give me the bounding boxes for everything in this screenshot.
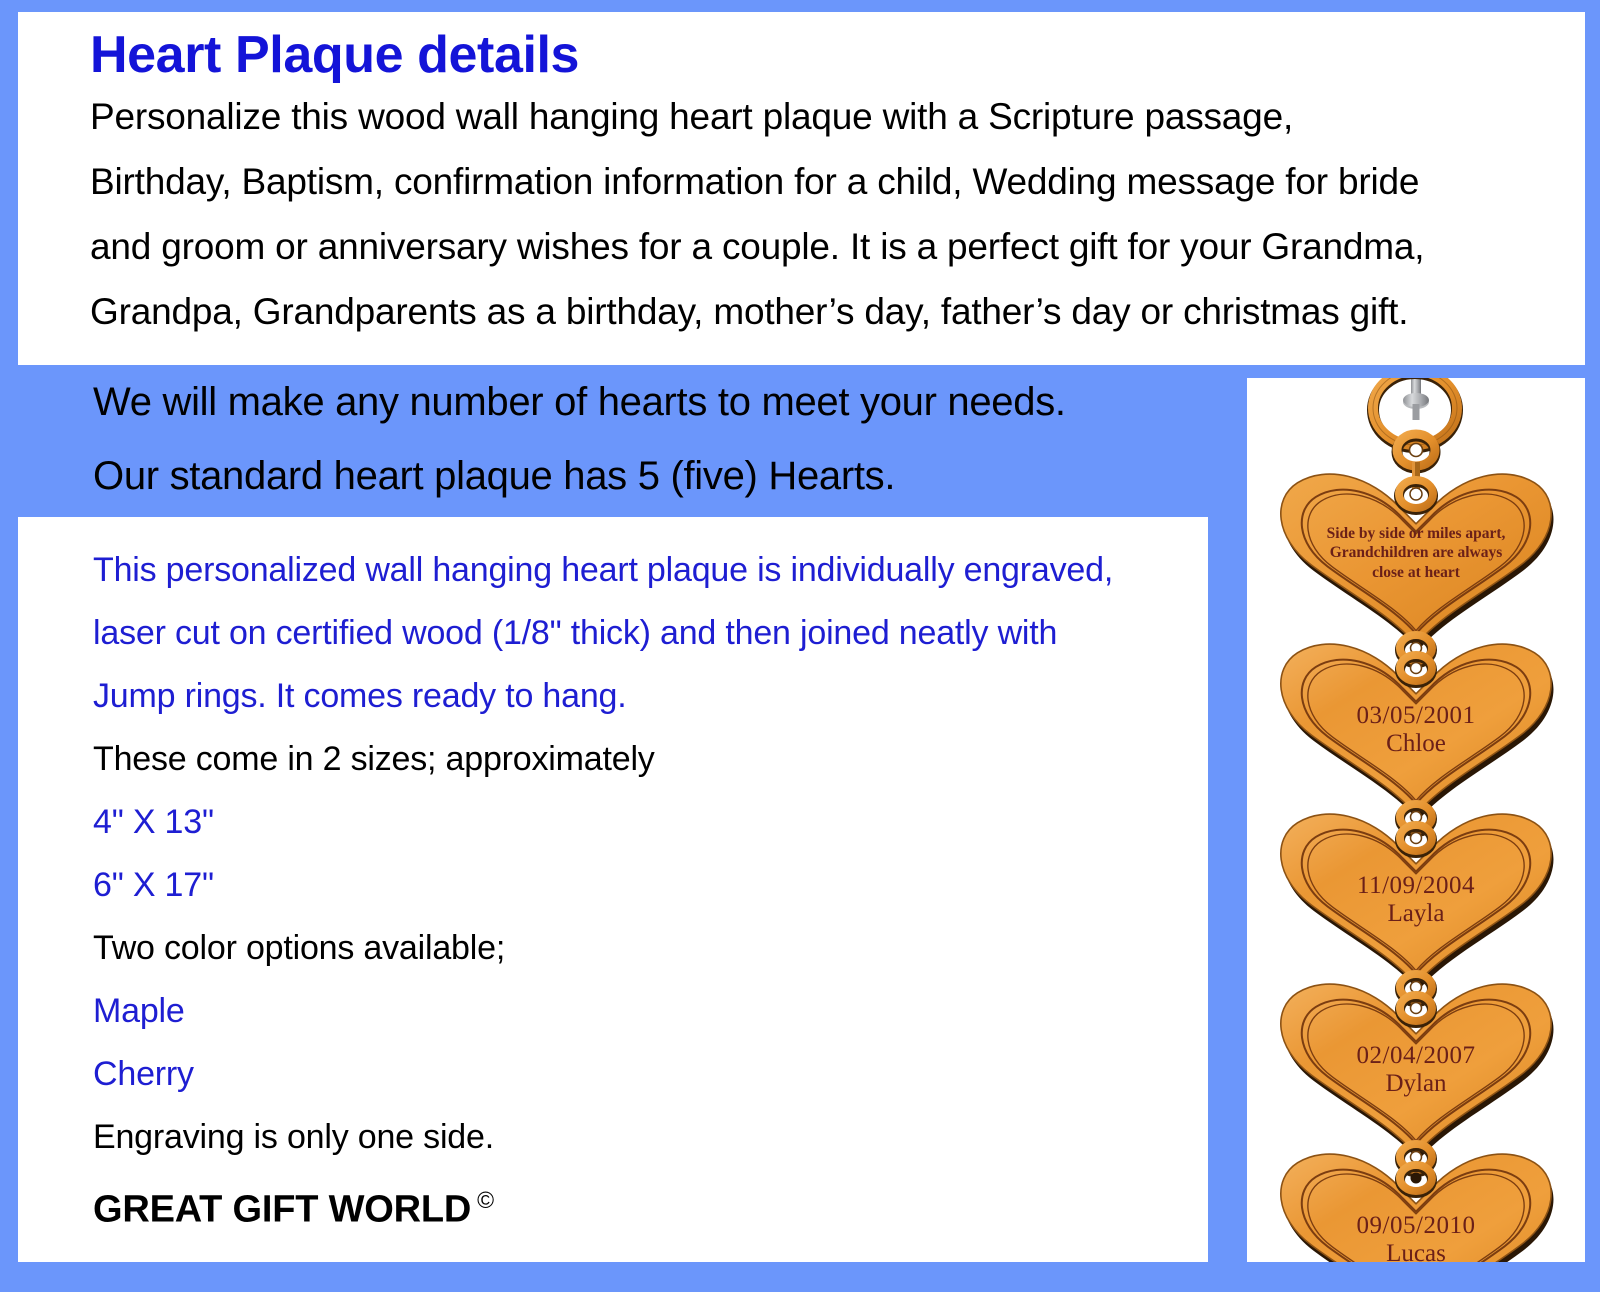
- color-option: Maple: [93, 980, 1188, 1043]
- page-title: Heart Plaque details: [90, 28, 1565, 82]
- product-image-panel: Side by side or miles apart, Grandchildr…: [1247, 378, 1585, 1262]
- jump-ring: [1400, 1165, 1432, 1193]
- detail-line: These come in 2 sizes; approximately: [93, 728, 1188, 791]
- size-option: 6" X 17": [93, 854, 1188, 917]
- product-detail-page: Heart Plaque details Personalize this wo…: [0, 0, 1600, 1292]
- jump-ring: [1400, 825, 1432, 853]
- detail-line: laser cut on certified wood (1/8" thick)…: [93, 602, 1188, 665]
- detail-line: Engraving is only one side.: [93, 1106, 1188, 1169]
- jump-ring: [1400, 995, 1432, 1023]
- intro-line: Birthday, Baptism, confirmation informat…: [90, 149, 1565, 214]
- jump-ring: [1399, 480, 1433, 510]
- highlight-band: We will make any number of hearts to mee…: [18, 365, 1208, 515]
- brand-name: GREAT GIFT WORLD: [93, 1189, 471, 1231]
- brand-logo: GREAT GIFT WORLD©: [93, 1187, 1188, 1232]
- wall-screw-icon: [1403, 378, 1429, 420]
- intro-line: and groom or anniversary wishes for a co…: [90, 214, 1565, 279]
- detail-line: Two color options available;: [93, 917, 1188, 980]
- intro-line: Personalize this wood wall hanging heart…: [90, 84, 1565, 149]
- description-panel: Heart Plaque details Personalize this wo…: [18, 12, 1585, 365]
- color-option: Cherry: [93, 1043, 1188, 1106]
- detail-line: Jump rings. It comes ready to hang.: [93, 665, 1188, 728]
- details-panel: This personalized wall hanging heart pla…: [18, 517, 1208, 1262]
- highlight-line: Our standard heart plaque has 5 (five) H…: [93, 439, 1208, 513]
- detail-line: This personalized wall hanging heart pla…: [93, 539, 1188, 602]
- jump-ring: [1400, 655, 1432, 683]
- copyright-icon: ©: [477, 1187, 494, 1213]
- size-option: 4" X 13": [93, 791, 1188, 854]
- intro-line: Grandpa, Grandparents as a birthday, mot…: [90, 279, 1565, 344]
- heart-chain-illustration: [1247, 378, 1585, 1262]
- highlight-line: We will make any number of hearts to mee…: [93, 365, 1208, 439]
